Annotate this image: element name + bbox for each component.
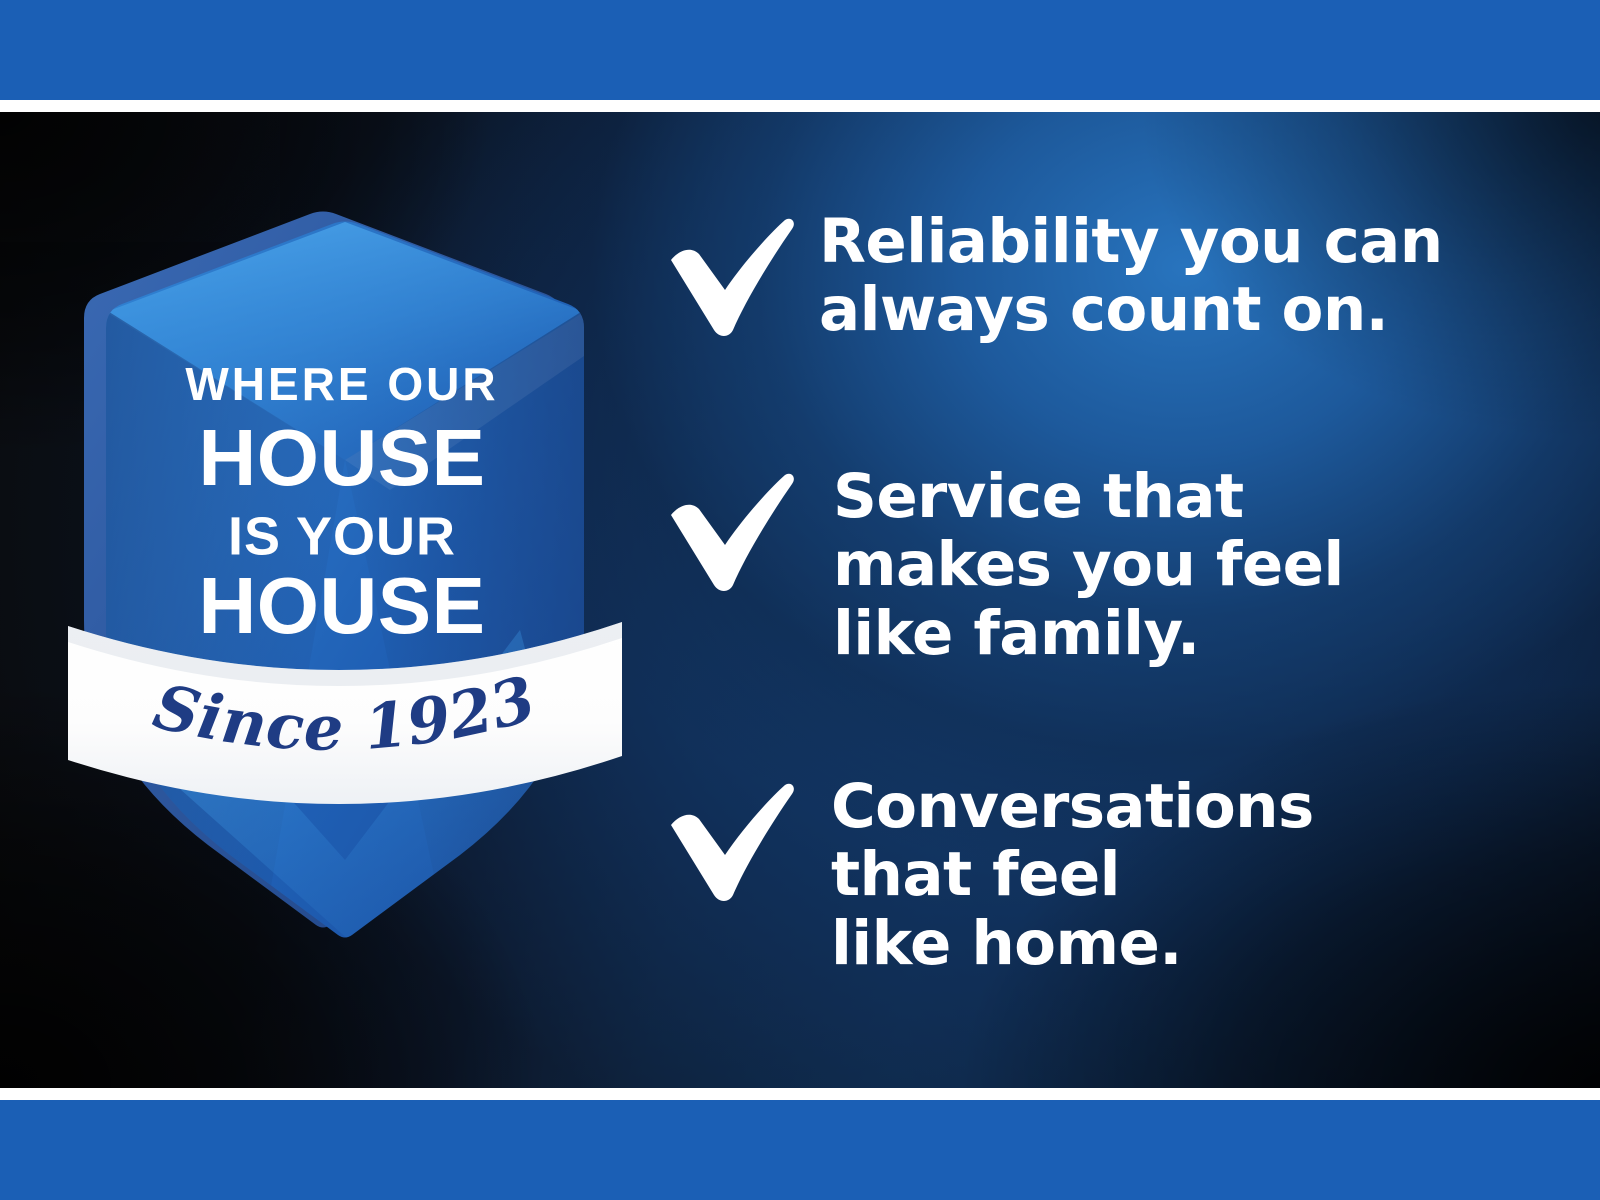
bottom-brand-bar [0,1100,1600,1200]
benefit-item: Conversations that feel like home. [665,777,1314,978]
top-white-divider [0,100,1600,112]
benefits-list: Reliability you can always count on. Ser… [665,112,1495,1088]
benefit-text: Reliability you can always count on. [819,208,1443,345]
shield-line-1: HOUSE [199,413,486,502]
shield-line-0: WHERE OUR [185,358,498,410]
top-brand-bar [0,0,1600,100]
shield-line-3: HOUSE [199,561,486,650]
company-shield-badge: WHERE OUR HOUSE IS YOUR HOUSE Since 1923 [60,160,630,950]
shield-line-2: IS YOUR [228,506,456,566]
check-mark-icon [665,777,797,901]
benefit-item: Service that makes you feel like family. [665,467,1344,668]
benefit-text: Service that makes you feel like family. [833,463,1344,668]
check-mark-icon [665,212,797,336]
bottom-white-divider [0,1088,1600,1100]
promo-graphic: WHERE OUR HOUSE IS YOUR HOUSE Since 1923 [0,0,1600,1200]
benefit-text: Conversations that feel like home. [831,773,1314,978]
check-mark-icon [665,467,797,591]
benefit-item: Reliability you can always count on. [665,212,1443,345]
